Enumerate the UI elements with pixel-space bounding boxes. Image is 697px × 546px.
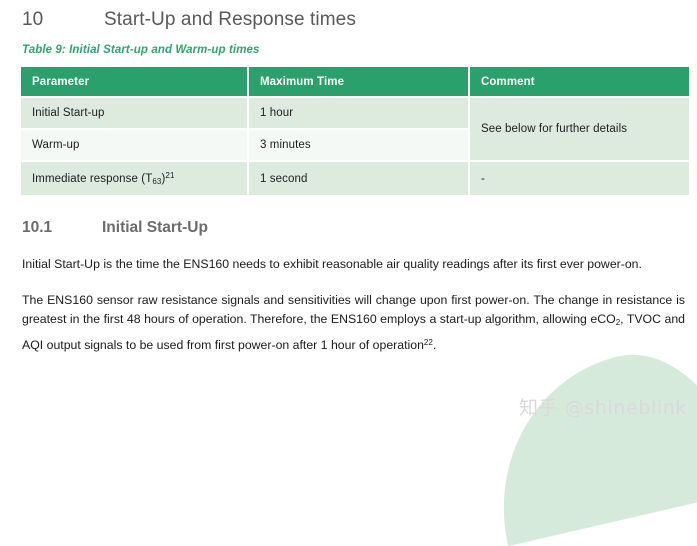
cell-comment: - xyxy=(470,162,689,195)
subsection-heading: 10.1 Initial Start-Up xyxy=(0,197,697,237)
footnote-marker-22: 22 xyxy=(424,338,433,347)
cell-parameter: Warm-up xyxy=(21,130,247,160)
section-number: 10 xyxy=(22,9,104,31)
cell-parameter-footnote: 21 xyxy=(165,171,174,180)
paragraph-resistance-change: The ENS160 sensor raw resistance signals… xyxy=(0,291,697,356)
cell-parameter-text: Immediate response (T xyxy=(32,173,152,185)
column-header-comment: Comment xyxy=(470,67,689,96)
table-row: Immediate response (T63)21 1 second - xyxy=(21,162,689,195)
paragraph-part-c: . xyxy=(433,338,436,352)
table-wrapper: Parameter Maximum Time Comment Initial S… xyxy=(19,65,624,197)
start-up-times-table: Parameter Maximum Time Comment Initial S… xyxy=(19,65,691,197)
column-header-parameter: Parameter xyxy=(21,67,247,96)
paragraph-part-a: The ENS160 sensor raw resistance signals… xyxy=(22,293,685,327)
section-title: Start-Up and Response times xyxy=(104,9,356,31)
column-header-maximum-time: Maximum Time xyxy=(249,67,468,96)
cell-maximum-time: 1 second xyxy=(249,162,468,195)
cell-parameter: Initial Start-up xyxy=(21,98,247,128)
subsection-title: Initial Start-Up xyxy=(102,219,208,237)
cell-comment-merged: See below for further details xyxy=(470,98,689,160)
cell-maximum-time: 1 hour xyxy=(249,98,468,128)
page-heading: 10 Start-Up and Response times xyxy=(0,0,697,31)
watermark: 知乎 @shineblink xyxy=(519,393,687,420)
paragraph-initial-startup: Initial Start-Up is the time the ENS160 … xyxy=(0,255,697,275)
cell-parameter: Immediate response (T63)21 xyxy=(21,162,247,195)
table-row: Initial Start-up 1 hour See below for fu… xyxy=(21,98,689,128)
subsection-number: 10.1 xyxy=(22,219,102,237)
cell-maximum-time: 3 minutes xyxy=(249,130,468,160)
corner-decoration xyxy=(472,334,697,546)
table-caption: Table 9: Initial Start-up and Warm-up ti… xyxy=(22,44,697,56)
table-header-row: Parameter Maximum Time Comment xyxy=(21,67,689,96)
